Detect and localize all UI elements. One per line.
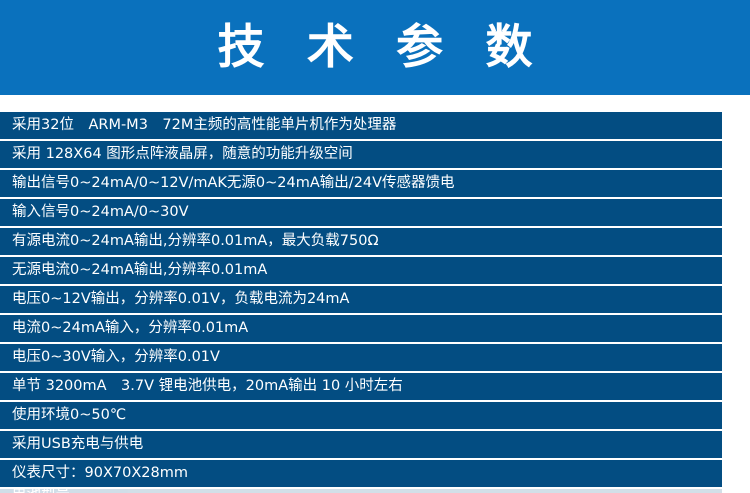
spec-row-text: 无源电流0~24mA输出,分辨率0.01mA (0, 257, 267, 284)
page-title: 技 术 参 数 (204, 24, 545, 71)
table-row: 单节 3200mA 3.7V 锂电池供电，20mA输出 10 小时左右 (0, 373, 722, 400)
spec-row-text: 采用32位 ARM-M3 72M主频的高性能单片机作为处理器 (0, 112, 396, 139)
spec-row-text: 电压0~30V输入，分辨率0.01V (0, 344, 220, 371)
page-header-banner: 技 术 参 数 (0, 0, 750, 95)
spec-row-text: 使用环境0~50℃ (0, 402, 126, 429)
spec-row-text: 采用 128X64 图形点阵液晶屏，随意的功能升级空间 (0, 141, 353, 168)
table-row: 采用USB充电与供电 (0, 431, 722, 458)
table-row: 电压0~30V输入，分辨率0.01V (0, 344, 722, 371)
spec-row-text: 电流0~24mA输入，分辨率0.01mA (0, 315, 248, 342)
table-row: 采用 128X64 图形点阵液晶屏，随意的功能升级空间 (0, 141, 722, 168)
table-row: 电压0~12V输出，分辨率0.01V，负载电流为24mA (0, 286, 722, 313)
spec-row-text: 输出信号0~24mA/0~12V/mAK无源0~24mA输出/24V传感器馈电 (0, 170, 455, 197)
table-row: 无源电流0~24mA输出,分辨率0.01mA (0, 257, 722, 284)
spec-row-text: 仪表尺寸：90X70X28mm (0, 460, 188, 487)
table-row: 电流0~24mA输入，分辨率0.01mA (0, 315, 722, 342)
spec-sheet-page: 技 术 参 数 采用32位 ARM-M3 72M主频的高性能单片机作为处理器 采… (0, 0, 750, 493)
table-row: 输入信号0~24mA/0~30V (0, 199, 722, 226)
spec-row-text: 电池型号 (0, 489, 70, 493)
specification-table: 采用32位 ARM-M3 72M主频的高性能单片机作为处理器 采用 128X64… (0, 112, 722, 493)
spec-row-text: 有源电流0~24mA输出,分辨率0.01mA，最大负载750Ω (0, 228, 379, 255)
table-row-clipped: 电池型号 (0, 489, 722, 493)
spec-row-text: 电压0~12V输出，分辨率0.01V，负载电流为24mA (0, 286, 349, 313)
table-row: 有源电流0~24mA输出,分辨率0.01mA，最大负载750Ω (0, 228, 722, 255)
table-row: 仪表尺寸：90X70X28mm (0, 460, 722, 487)
spec-row-text: 采用USB充电与供电 (0, 431, 143, 458)
table-row: 使用环境0~50℃ (0, 402, 722, 429)
spec-row-text: 输入信号0~24mA/0~30V (0, 199, 189, 226)
spec-row-text: 单节 3200mA 3.7V 锂电池供电，20mA输出 10 小时左右 (0, 373, 403, 400)
table-row: 采用32位 ARM-M3 72M主频的高性能单片机作为处理器 (0, 112, 722, 139)
table-row: 输出信号0~24mA/0~12V/mAK无源0~24mA输出/24V传感器馈电 (0, 170, 722, 197)
